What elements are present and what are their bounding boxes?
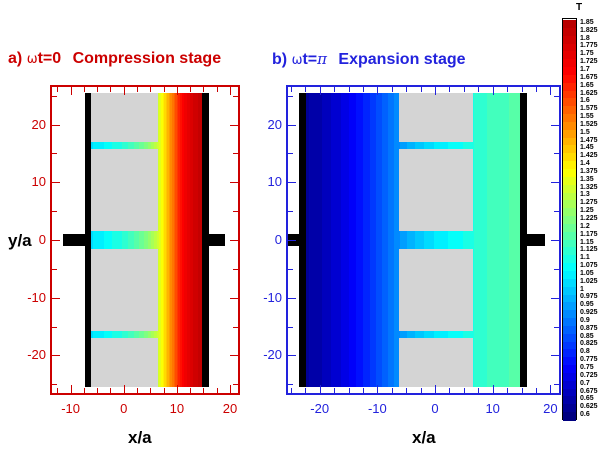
colorbar-tick-label: 1.525	[580, 121, 598, 128]
colorbar-tick-label: 0.75	[580, 364, 594, 371]
x-axis-tick	[217, 87, 218, 92]
colorbar-tick-label: 1.375	[580, 168, 598, 175]
piston-wall	[299, 93, 306, 387]
x-axis-tick	[71, 87, 72, 95]
piston-wall	[85, 93, 91, 387]
colorbar-tick-label: 1.575	[580, 105, 598, 112]
x-axis-tick	[84, 388, 85, 393]
x-axis-tick	[421, 87, 422, 92]
colorbar-tick-label: 1.625	[580, 90, 598, 97]
x-axis-tick	[493, 87, 494, 95]
colorbar-tick-label: 0.675	[580, 388, 598, 395]
x-axis-tick	[464, 388, 465, 393]
panel-a-label: a)	[8, 50, 22, 67]
panel-a-plot-area	[52, 87, 238, 393]
y-axis-tick	[554, 211, 559, 212]
colorbar-tick-label: 1.55	[580, 113, 594, 120]
y-axis-tick	[288, 269, 293, 270]
colorbar-tick-label: 1.35	[580, 176, 594, 183]
x-axis-tick	[363, 87, 364, 92]
colorbar-tick-label: 1.3	[580, 191, 590, 198]
colorbar-tick-label: 0.825	[580, 340, 598, 347]
y-axis-tick	[554, 384, 559, 385]
x-axis-tick	[522, 87, 523, 92]
y-axis-tick	[52, 384, 57, 385]
colorbar-tick-label: 0.8	[580, 348, 590, 355]
x-axis-tick	[507, 87, 508, 92]
x-axis-tick	[150, 388, 151, 393]
colorbar-tick-label: 0.9	[580, 317, 590, 324]
x-tick-label: 20	[220, 401, 240, 416]
y-axis-tick	[230, 298, 238, 299]
y-axis-tick	[288, 384, 293, 385]
y-axis-tick	[554, 153, 559, 154]
x-axis-tick	[435, 87, 436, 95]
x-axis-tick	[406, 87, 407, 92]
regenerator-block	[399, 149, 473, 232]
x-axis-tick	[449, 87, 450, 92]
panel-a-title: a) ωt=0 Compression stage	[8, 50, 221, 68]
y-axis-tick	[554, 327, 559, 328]
x-axis-tick	[363, 388, 364, 393]
y-axis-tick	[52, 298, 60, 299]
colorbar-tick-label: 0.65	[580, 395, 594, 402]
y-axis-tick	[551, 182, 559, 183]
y-axis-tick	[288, 240, 296, 241]
x-axis-tick	[305, 388, 306, 393]
x-axis-tick	[124, 385, 125, 393]
x-axis-tick	[291, 87, 292, 92]
x-axis-tick	[57, 388, 58, 393]
x-axis-tick	[230, 385, 231, 393]
x-axis-tick	[320, 87, 321, 95]
colorbar-tick-label: 1.175	[580, 231, 598, 238]
colorbar-tick-label: 1.75	[580, 50, 594, 57]
panel-b-plot-area	[288, 87, 559, 393]
x-axis-tick	[334, 388, 335, 393]
x-axis-tick	[230, 87, 231, 95]
colorbar-tick-label: 1	[580, 286, 584, 293]
x-axis-tick	[522, 388, 523, 393]
y-axis-tick	[52, 125, 60, 126]
piston-rod	[63, 234, 85, 247]
y-axis-tick	[52, 327, 57, 328]
y-axis-tick	[288, 96, 293, 97]
x-axis-tick	[203, 388, 204, 393]
y-tick-label: -20	[252, 347, 282, 362]
x-axis-tick	[137, 87, 138, 92]
y-axis-tick	[52, 240, 60, 241]
colorbar-title: T	[576, 2, 582, 13]
colorbar-tick-label: 0.95	[580, 301, 594, 308]
x-axis-tick	[164, 388, 165, 393]
y-axis-tick	[551, 240, 559, 241]
x-axis-tick	[97, 388, 98, 393]
colorbar-tick-label: 0.975	[580, 293, 598, 300]
colorbar-tick-label: 1.8	[580, 35, 590, 42]
x-axis-tick	[124, 87, 125, 95]
y-axis-tick	[233, 327, 238, 328]
colorbar-tick-label: 1.425	[580, 152, 598, 159]
colorbar-tick-label: 1.725	[580, 58, 598, 65]
x-axis-tick	[320, 385, 321, 393]
x-axis-tick	[349, 388, 350, 393]
y-axis-tick	[233, 269, 238, 270]
colorbar-tick-label: 1.05	[580, 270, 594, 277]
colorbar-tick-label: 1.025	[580, 278, 598, 285]
colorbar-tick-label: 1.775	[580, 42, 598, 49]
x-axis-tick	[110, 388, 111, 393]
y-axis-tick	[52, 153, 57, 154]
regenerator-block	[90, 93, 158, 141]
panel-b-label: b)	[272, 51, 287, 68]
y-axis-tick	[551, 125, 559, 126]
colorbar-tick-label: 1.25	[580, 207, 594, 214]
x-axis-tick	[435, 385, 436, 393]
y-tick-label: 20	[16, 117, 46, 132]
colorbar-tick-label: 1.45	[580, 144, 594, 151]
x-axis-tick	[217, 388, 218, 393]
colorbar-tick-label: 1.475	[580, 137, 598, 144]
panel-b-title: b) ωt=π Expansion stage	[272, 50, 466, 69]
y-tick-label: 0	[252, 232, 282, 247]
y-tick-label: -10	[252, 290, 282, 305]
panel-a-xlabel: x/a	[128, 428, 152, 448]
regenerator-block	[399, 249, 473, 332]
x-tick-label: 0	[425, 401, 445, 416]
x-axis-tick	[377, 87, 378, 95]
figure-canvas: a) ωt=0 Compression stage b) ωt=π Expans…	[0, 0, 607, 456]
x-axis-tick	[57, 87, 58, 92]
colorbar: T 1.851.8251.81.7751.751.7251.71.6751.65…	[562, 18, 607, 438]
x-axis-tick	[349, 87, 350, 92]
x-axis-tick	[493, 385, 494, 393]
y-axis-tick	[288, 298, 296, 299]
x-axis-tick	[536, 388, 537, 393]
x-axis-tick	[377, 385, 378, 393]
x-axis-tick	[305, 87, 306, 92]
x-axis-tick	[550, 385, 551, 393]
colorbar-tick-label: 1.4	[580, 160, 590, 167]
y-axis-tick	[554, 96, 559, 97]
x-axis-tick	[164, 87, 165, 92]
colorbar-tick-label: 1.85	[580, 19, 594, 26]
regenerator-block	[90, 338, 158, 386]
y-tick-label: 10	[252, 174, 282, 189]
x-axis-tick	[392, 388, 393, 393]
x-axis-tick	[449, 388, 450, 393]
y-tick-label: 10	[16, 174, 46, 189]
x-axis-tick	[71, 385, 72, 393]
y-axis-tick	[288, 182, 296, 183]
x-axis-tick	[150, 87, 151, 92]
colorbar-tick-label: 1.5	[580, 129, 590, 136]
x-tick-label: 10	[483, 401, 503, 416]
x-axis-tick	[190, 388, 191, 393]
x-tick-label: 20	[540, 401, 560, 416]
x-tick-label: 0	[114, 401, 134, 416]
x-axis-tick	[84, 87, 85, 92]
x-tick-label: 10	[167, 401, 187, 416]
y-axis-tick	[554, 269, 559, 270]
piston-rod	[202, 234, 224, 247]
colorbar-tick-label: 1.825	[580, 27, 598, 34]
y-tick-label: 0	[16, 232, 46, 247]
colorbar-tick-label: 0.925	[580, 309, 598, 316]
colorbar-tick-label: 0.6	[580, 411, 590, 418]
x-tick-label: -20	[310, 401, 330, 416]
colorbar-tick-label: 1.675	[580, 74, 598, 81]
y-axis-tick	[230, 355, 238, 356]
colorbar-tick-label: 1.1	[580, 254, 590, 261]
colorbar-tick-label: 1.2	[580, 223, 590, 230]
y-axis-tick	[230, 240, 238, 241]
x-axis-tick	[406, 388, 407, 393]
y-axis-tick	[288, 211, 293, 212]
colorbar-tick-label: 0.775	[580, 356, 598, 363]
piston-rod	[520, 234, 544, 247]
y-tick-label: 20	[252, 117, 282, 132]
y-axis-tick	[233, 96, 238, 97]
y-axis-tick	[52, 96, 57, 97]
y-axis-tick	[52, 269, 57, 270]
colorbar-tick-label: 1.075	[580, 262, 598, 269]
x-axis-tick	[507, 388, 508, 393]
x-axis-tick	[97, 87, 98, 92]
x-axis-tick	[137, 388, 138, 393]
colorbar-tick-label: 1.7	[580, 66, 590, 73]
colorbar-tick-label: 1.275	[580, 199, 598, 206]
x-axis-tick	[464, 87, 465, 92]
regenerator-block	[90, 249, 158, 332]
colorbar-tick-label: 0.85	[580, 333, 594, 340]
regenerator-block	[399, 93, 473, 141]
y-tick-label: -10	[16, 290, 46, 305]
x-axis-tick	[421, 388, 422, 393]
y-axis-tick	[52, 182, 60, 183]
y-axis-tick	[233, 384, 238, 385]
colorbar-gradient	[562, 18, 577, 420]
colorbar-tick-label: 0.625	[580, 403, 598, 410]
y-axis-tick	[233, 153, 238, 154]
y-axis-tick	[230, 182, 238, 183]
x-axis-tick	[536, 87, 537, 92]
regenerator-block	[90, 149, 158, 232]
y-axis-tick	[288, 355, 296, 356]
y-axis-tick	[233, 211, 238, 212]
x-axis-tick	[334, 87, 335, 92]
colorbar-tick-label: 1.65	[580, 82, 594, 89]
x-axis-tick	[478, 87, 479, 92]
y-axis-tick	[52, 355, 60, 356]
y-axis-tick	[551, 355, 559, 356]
colorbar-tick-label: 1.225	[580, 215, 598, 222]
colorbar-tick-label: 1.325	[580, 184, 598, 191]
x-axis-tick	[110, 87, 111, 92]
x-axis-tick	[550, 87, 551, 95]
colorbar-tick-label: 1.6	[580, 97, 590, 104]
y-tick-label: -20	[16, 347, 46, 362]
colorbar-tick-label: 1.125	[580, 246, 598, 253]
x-tick-label: -10	[367, 401, 387, 416]
x-axis-tick	[392, 87, 393, 92]
x-axis-tick	[177, 87, 178, 95]
colorbar-tick-label: 0.875	[580, 325, 598, 332]
y-axis-tick	[288, 153, 293, 154]
colorbar-segment	[563, 412, 576, 420]
x-axis-tick	[478, 388, 479, 393]
x-axis-tick	[291, 388, 292, 393]
y-axis-tick	[551, 298, 559, 299]
y-axis-tick	[52, 211, 57, 212]
colorbar-tick-label: 0.7	[580, 380, 590, 387]
x-axis-tick	[203, 87, 204, 92]
x-axis-tick	[177, 385, 178, 393]
x-tick-label: -10	[61, 401, 81, 416]
y-axis-tick	[288, 125, 296, 126]
panel-b-xlabel: x/a	[412, 428, 436, 448]
regenerator-block	[399, 338, 473, 386]
y-axis-tick	[288, 327, 293, 328]
colorbar-tick-label: 1.15	[580, 239, 594, 246]
colorbar-tick-label: 0.725	[580, 372, 598, 379]
x-axis-tick	[190, 87, 191, 92]
y-axis-tick	[230, 125, 238, 126]
